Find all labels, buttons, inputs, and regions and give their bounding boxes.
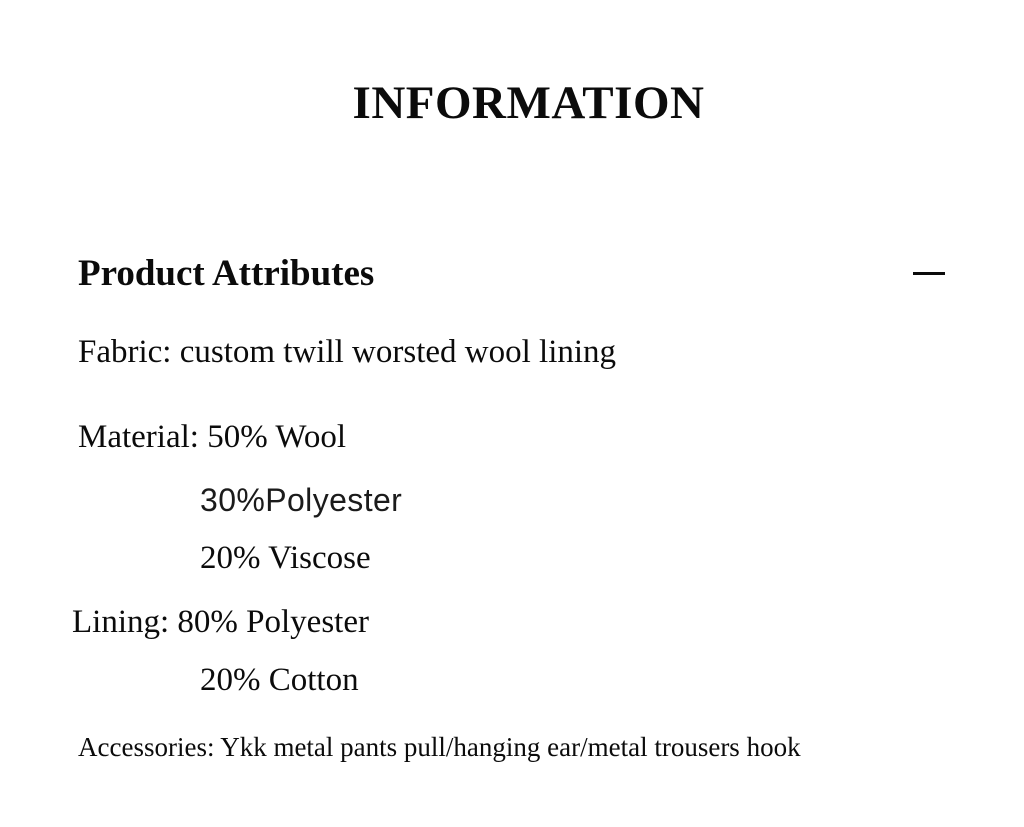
attribute-lining-cotton: 20% Cotton	[200, 664, 359, 697]
section-title: Product Attributes	[78, 255, 374, 292]
attribute-accessories: Accessories: Ykk metal pants pull/hangin…	[78, 734, 801, 761]
product-attributes-section-header[interactable]: Product Attributes	[78, 248, 946, 298]
minus-icon[interactable]	[912, 261, 946, 285]
attribute-material: Material: 50% Wool	[78, 421, 346, 454]
information-page: INFORMATION Product Attributes Fabric: c…	[0, 0, 1024, 827]
attribute-material-viscose: 20% Viscose	[200, 542, 371, 575]
minus-icon-bar	[913, 272, 945, 275]
attribute-lining: Lining: 80% Polyester	[72, 606, 369, 639]
page-title: INFORMATION	[0, 80, 1024, 127]
attribute-material-polyester: 30%Polyester	[200, 484, 402, 516]
attribute-fabric: Fabric: custom twill worsted wool lining	[78, 336, 616, 369]
